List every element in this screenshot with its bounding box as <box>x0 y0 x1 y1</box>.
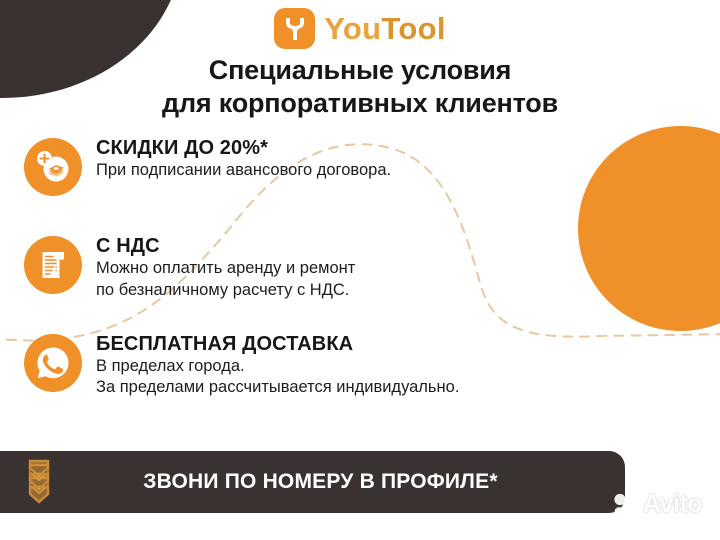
feature-text: С НДС Можно оплатить аренду и ремонт по … <box>96 234 355 301</box>
whatsapp-phone-icon <box>24 334 82 392</box>
youtool-wrench-logo-icon <box>274 8 315 49</box>
avito-dots-icon <box>613 493 639 517</box>
call-to-action-bar[interactable]: ЗВОНИ ПО НОМЕРУ В ПРОФИЛЕ* <box>0 451 625 513</box>
feature-title: БЕСПЛАТНАЯ ДОСТАВКА <box>96 333 353 355</box>
list-item: С НДС Можно оплатить аренду и ремонт по … <box>24 234 624 301</box>
feature-desc-line-1: Можно оплатить аренду и ремонт <box>96 258 355 279</box>
money-stack-plus-icon <box>24 138 82 196</box>
promo-poster: YouTool Специальные условия для корпорат… <box>0 0 720 540</box>
feature-desc-line-2: по безналичному расчету с НДС. <box>96 280 355 301</box>
brand-logo: YouTool <box>0 8 720 49</box>
headline-line-2: для корпоративных клиентов <box>0 87 720 120</box>
brand-wordmark: YouTool <box>324 13 445 44</box>
feature-desc-line-2: За пределами рассчитывается индивидуальн… <box>96 377 459 398</box>
feature-desc-line-1: При подписании авансового договора. <box>96 160 391 181</box>
feature-description: Можно оплатить аренду и ремонт по безнал… <box>96 258 355 301</box>
avito-wordmark: Avito <box>643 492 702 517</box>
page-title: Специальные условия для корпоративных кл… <box>0 54 720 120</box>
feature-text: БЕСПЛАТНАЯ ДОСТАВКА В пределах города. З… <box>96 332 459 399</box>
feature-description: В пределах города. За пределами рассчиты… <box>96 356 459 399</box>
brand-name-tool: Tool <box>381 11 445 46</box>
list-item: СКИДКИ ДО 20%* При подписании авансового… <box>24 136 624 196</box>
headline-line-1: Специальные условия <box>209 55 511 85</box>
feature-title: С НДС <box>96 235 160 257</box>
cta-label: ЗВОНИ ПО НОМЕРУ В ПРОФИЛЕ* <box>74 470 625 494</box>
feature-text: СКИДКИ ДО 20%* При подписании авансового… <box>96 136 391 182</box>
list-item: БЕСПЛАТНАЯ ДОСТАВКА В пределах города. З… <box>24 332 624 399</box>
avito-watermark: Avito <box>613 492 702 517</box>
triple-chevron-down-icon <box>22 457 74 507</box>
feature-desc-line-1: В пределах города. <box>96 356 459 377</box>
invoice-document-icon <box>24 236 82 294</box>
feature-title: СКИДКИ ДО 20%* <box>96 137 268 159</box>
feature-list: СКИДКИ ДО 20%* При подписании авансового… <box>24 136 624 399</box>
feature-description: При подписании авансового договора. <box>96 160 391 181</box>
brand-name-you: You <box>324 11 381 46</box>
